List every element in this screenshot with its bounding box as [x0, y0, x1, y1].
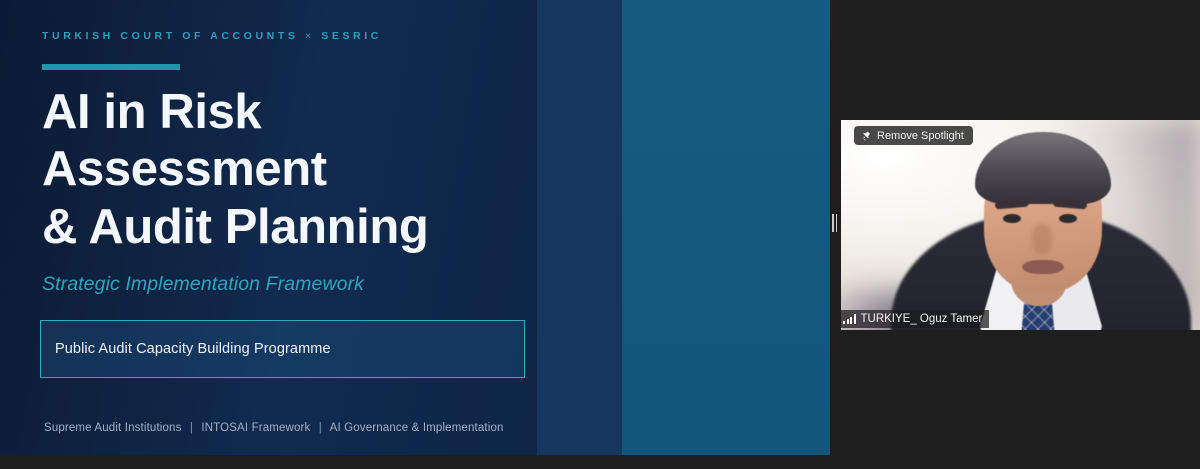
eye-left: [1003, 214, 1021, 223]
eyebrow-organisation: TURKISH COURT OF ACCOUNTS: [42, 30, 298, 42]
resize-handle-line: [832, 214, 834, 232]
meeting-stage: TURKISH COURT OF ACCOUNTS × SESRIC AI in…: [0, 0, 1200, 469]
resize-handle[interactable]: [832, 214, 837, 232]
accent-bar: [42, 64, 180, 70]
highlight-box-label: Public Audit Capacity Building Programme: [41, 341, 331, 357]
participant-name: TURKIYE_ Oguz Tamer: [861, 313, 983, 325]
title-line-1: AI in Risk Assessment: [42, 85, 327, 196]
signal-strength-icon: [843, 314, 856, 324]
highlight-box: Public Audit Capacity Building Programme: [40, 320, 525, 378]
slide-footer: Supreme Audit Institutions | INTOSAI Fra…: [44, 422, 504, 434]
eyebrow-separator: ×: [305, 30, 315, 42]
footer-item-1: Supreme Audit Institutions: [44, 422, 182, 434]
page-title: AI in Risk Assessment & Audit Planning: [42, 84, 532, 256]
slide-eyebrow: TURKISH COURT OF ACCOUNTS × SESRIC: [42, 30, 382, 42]
footer-item-3: AI Governance & Implementation: [330, 422, 504, 434]
signal-bar: [847, 319, 849, 324]
signal-bar: [854, 314, 856, 324]
footer-separator-2: |: [314, 422, 327, 434]
eyebrow-partner: SESRIC: [321, 30, 382, 42]
nose: [1032, 224, 1052, 254]
signal-bar: [843, 321, 845, 324]
slide-subtitle: Strategic Implementation Framework: [42, 273, 364, 296]
slide-band-light: [622, 0, 830, 455]
title-line-2: & Audit Planning: [42, 200, 428, 254]
signal-bar: [850, 317, 852, 325]
mouth: [1022, 260, 1064, 274]
pin-icon: [861, 130, 872, 142]
slide-band-mid: [537, 0, 622, 455]
slide-content: TURKISH COURT OF ACCOUNTS × SESRIC AI in…: [0, 0, 537, 455]
shared-slide[interactable]: TURKISH COURT OF ACCOUNTS × SESRIC AI in…: [0, 0, 830, 455]
participant-video-tile[interactable]: Remove Spotlight TURKIYE_ Oguz Tamer: [841, 120, 1200, 330]
footer-separator-1: |: [185, 422, 198, 434]
remove-spotlight-button[interactable]: Remove Spotlight: [854, 126, 973, 145]
resize-handle-line: [836, 214, 838, 232]
footer-item-2: INTOSAI Framework: [201, 422, 310, 434]
eye-right: [1059, 214, 1077, 223]
participant-name-plate: TURKIYE_ Oguz Tamer: [841, 310, 989, 328]
remove-spotlight-label: Remove Spotlight: [877, 130, 964, 142]
